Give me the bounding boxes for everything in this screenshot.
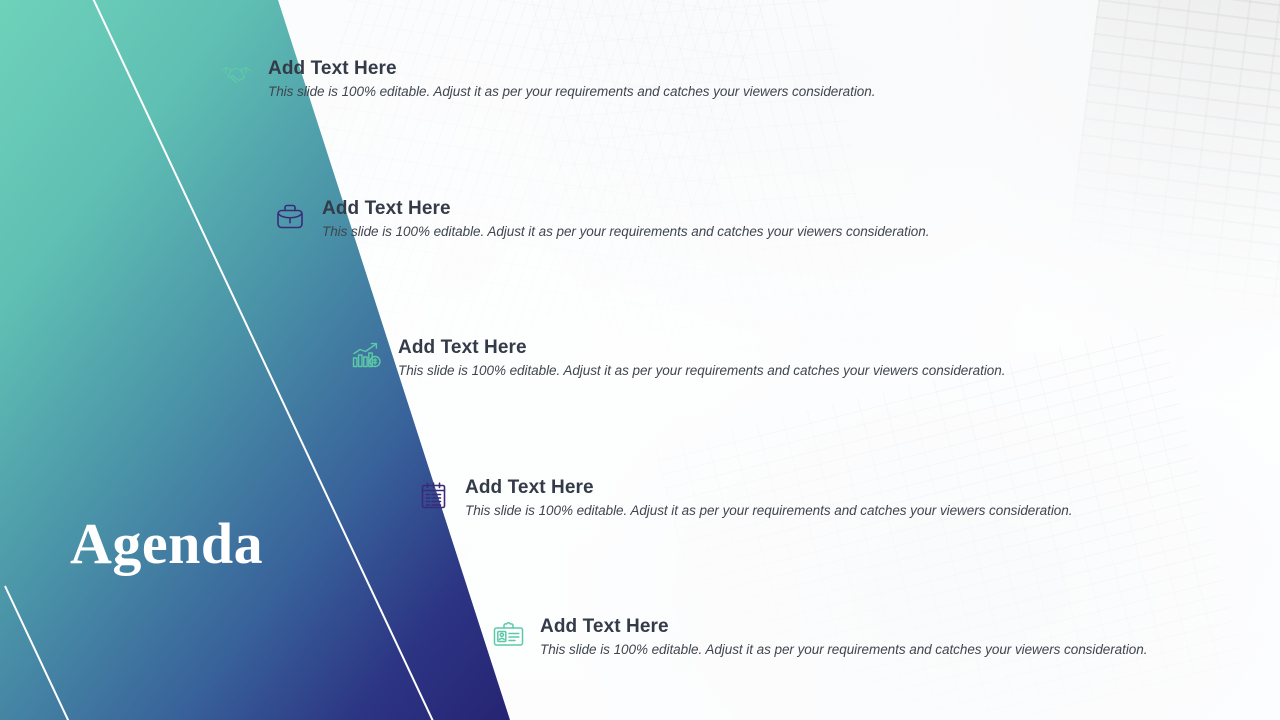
agenda-item-description: This slide is 100% editable. Adjust it a… <box>540 642 1147 658</box>
id-badge-icon <box>490 614 526 654</box>
agenda-item-title: Add Text Here <box>540 616 1147 638</box>
agenda-item-description: This slide is 100% editable. Adjust it a… <box>268 84 875 100</box>
agenda-item-title: Add Text Here <box>465 477 1072 499</box>
agenda-slide: Agenda Add Text Here This slide i <box>0 0 1280 720</box>
agenda-item-description: This slide is 100% editable. Adjust it a… <box>398 363 1005 379</box>
briefcase-icon <box>272 196 308 236</box>
growth-bar-chart-icon <box>348 335 384 375</box>
agenda-item-4[interactable]: Add Text Here This slide is 100% editabl… <box>415 475 1072 519</box>
agenda-item-3[interactable]: Add Text Here This slide is 100% editabl… <box>348 335 1005 379</box>
handshake-icon <box>218 56 254 96</box>
agenda-item-1[interactable]: Add Text Here This slide is 100% editabl… <box>218 56 875 100</box>
agenda-item-title: Add Text Here <box>322 198 929 220</box>
notepad-icon <box>415 475 451 515</box>
agenda-item-description: This slide is 100% editable. Adjust it a… <box>465 503 1072 519</box>
agenda-item-2[interactable]: Add Text Here This slide is 100% editabl… <box>272 196 929 240</box>
agenda-list: Add Text Here This slide is 100% editabl… <box>0 0 1280 720</box>
agenda-item-description: This slide is 100% editable. Adjust it a… <box>322 224 929 240</box>
agenda-item-title: Add Text Here <box>398 337 1005 359</box>
agenda-item-title: Add Text Here <box>268 58 875 80</box>
agenda-item-5[interactable]: Add Text Here This slide is 100% editabl… <box>490 614 1147 658</box>
